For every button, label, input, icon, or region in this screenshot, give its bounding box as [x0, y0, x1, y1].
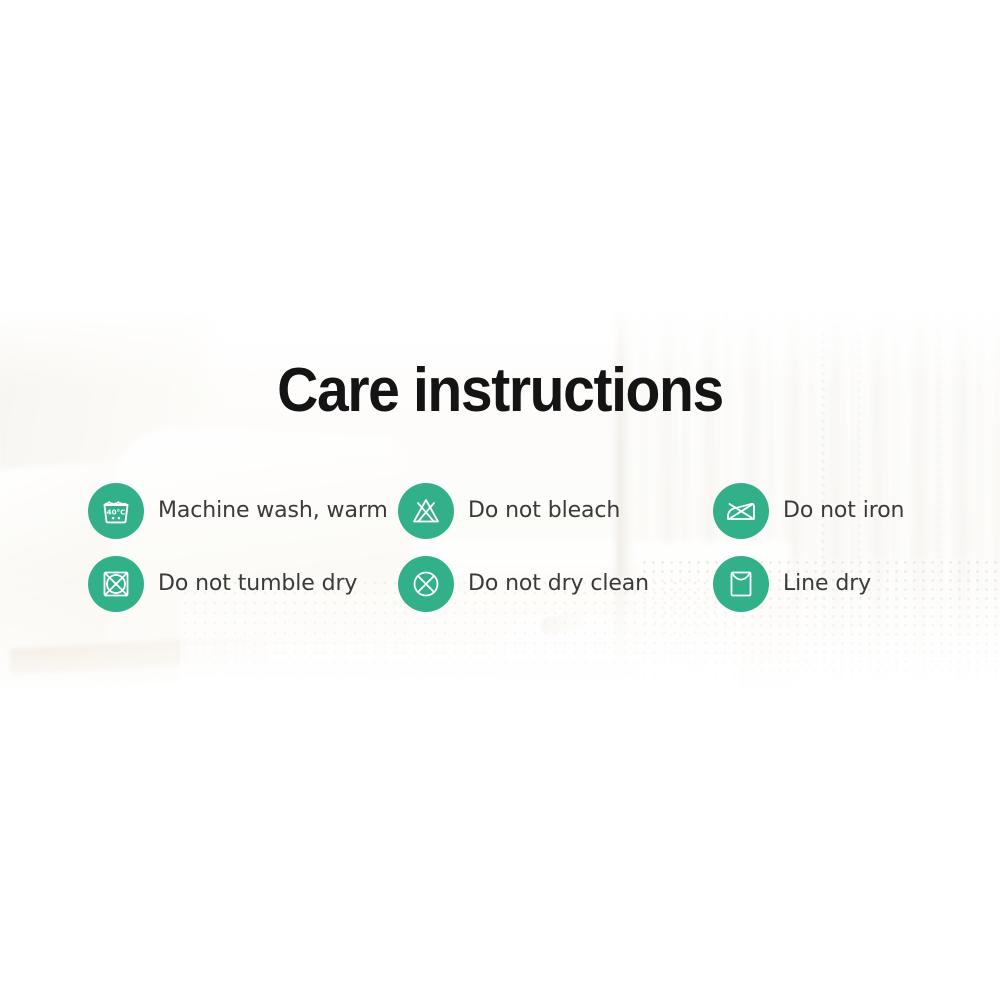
machine-wash-warm-icon: 40°C [88, 483, 144, 539]
care-item-line-dry: Line dry [713, 547, 948, 620]
do-not-bleach-icon [398, 483, 454, 539]
care-item-label: Do not iron [783, 498, 904, 523]
care-item-do-not-iron: Do not iron [713, 474, 948, 547]
care-item-do-not-dry-clean: Do not dry clean [398, 547, 713, 620]
care-item-label: Do not tumble dry [158, 571, 357, 596]
care-item-machine-wash-warm: 40°C Machine wash, warm [88, 474, 398, 547]
do-not-tumble-dry-icon [88, 556, 144, 612]
care-item-label: Machine wash, warm [158, 498, 388, 523]
care-instructions-banner: Care instructions 40°C Machine wash, [0, 0, 1000, 1000]
care-instruction-list: 40°C Machine wash, warm [88, 474, 948, 620]
care-item-label: Line dry [783, 571, 871, 596]
svg-text:40°C: 40°C [107, 507, 126, 516]
care-item-label: Do not bleach [468, 498, 620, 523]
care-item-label: Do not dry clean [468, 571, 649, 596]
care-item-do-not-bleach: Do not bleach [398, 474, 713, 547]
do-not-dry-clean-icon [398, 556, 454, 612]
do-not-iron-icon [713, 483, 769, 539]
care-item-do-not-tumble-dry: Do not tumble dry [88, 547, 398, 620]
line-dry-icon [713, 556, 769, 612]
page-title: Care instructions [40, 358, 960, 424]
